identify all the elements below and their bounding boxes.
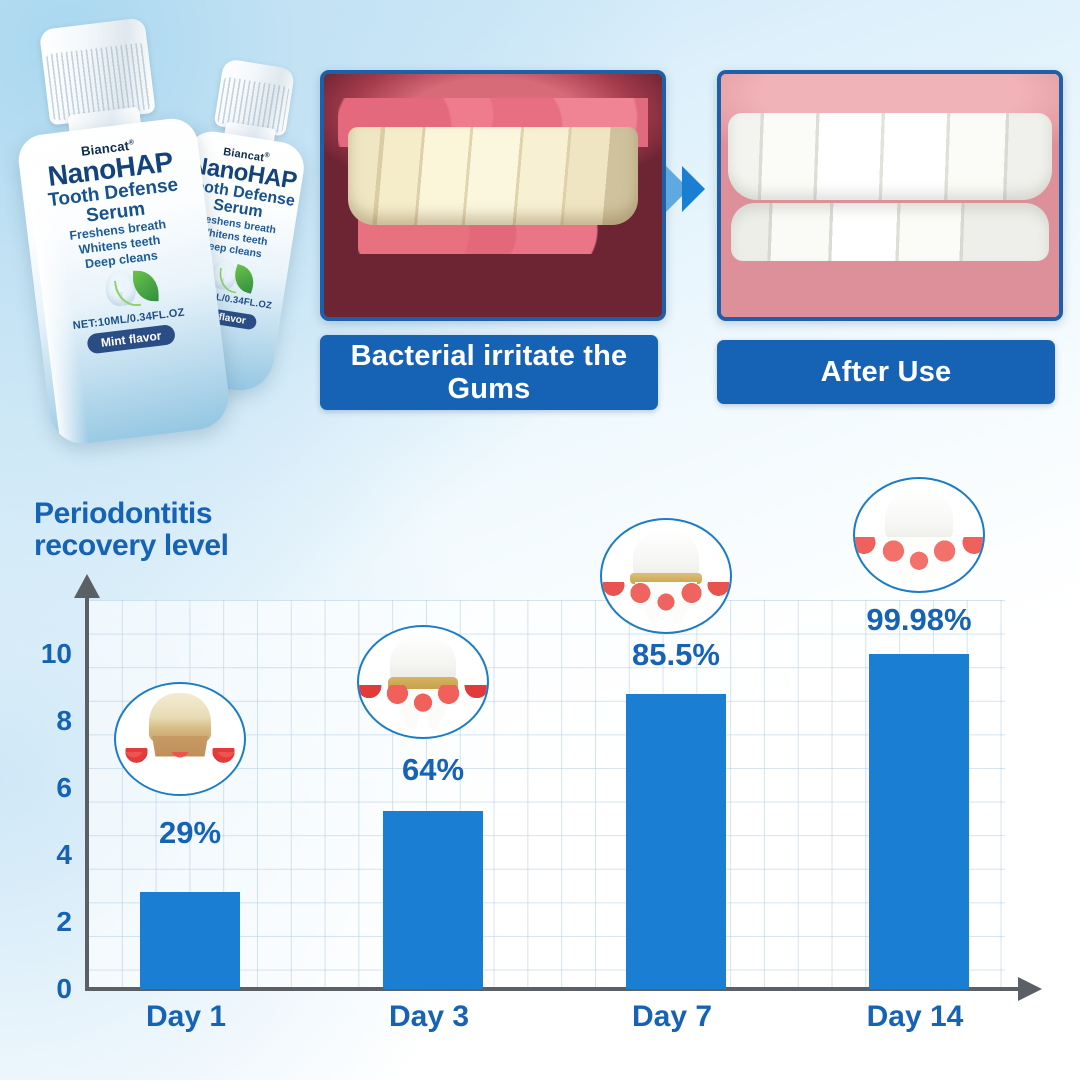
gum-line	[116, 752, 244, 794]
bar-label-day-1: 29%	[159, 815, 221, 851]
x-label-day-3: Day 3	[389, 1000, 469, 1034]
after-photo	[717, 70, 1063, 321]
y-tick-4: 4	[20, 839, 72, 871]
x-label-day-1: Day 1	[146, 1000, 226, 1034]
bar-label-day-14: 99.98%	[866, 602, 971, 638]
bar-day-14	[869, 654, 969, 989]
tooth-tartar-light-icon	[600, 518, 732, 634]
bar-label-day-3: 64%	[402, 752, 464, 788]
y-axis-line	[85, 594, 89, 990]
x-label-day-14: Day 14	[867, 1000, 964, 1034]
bottle-body-front: Biancat® NanoHAP Tooth Defense Serum Fre…	[16, 116, 233, 448]
y-axis-arrow	[74, 574, 100, 598]
y-tick-2: 2	[20, 906, 72, 938]
y-tick-8: 8	[20, 705, 72, 737]
bar-day-1	[140, 892, 240, 989]
tooth-healthy-icon	[853, 477, 985, 593]
tooth-severe-decay-icon	[114, 682, 246, 796]
bar-day-7	[626, 694, 726, 989]
y-tick-6: 6	[20, 772, 72, 804]
y-tick-0: 0	[20, 973, 72, 1005]
after-caption: After Use	[717, 340, 1055, 404]
tooth-tartar-heavy-icon	[357, 625, 489, 739]
x-axis-arrow	[1018, 977, 1042, 1001]
marketing-infographic: Biancat® NanoHAP Tooth Defense Serum Fre…	[0, 0, 1080, 1080]
x-label-day-7: Day 7	[632, 1000, 712, 1034]
before-photo	[320, 70, 666, 321]
before-caption: Bacterial irritate the Gums	[320, 335, 658, 410]
bar-day-3	[383, 811, 483, 989]
chart-title: Periodontitis recovery level	[34, 498, 334, 562]
y-tick-10: 10	[20, 638, 72, 670]
bar-label-day-7: 85.5%	[632, 637, 720, 673]
